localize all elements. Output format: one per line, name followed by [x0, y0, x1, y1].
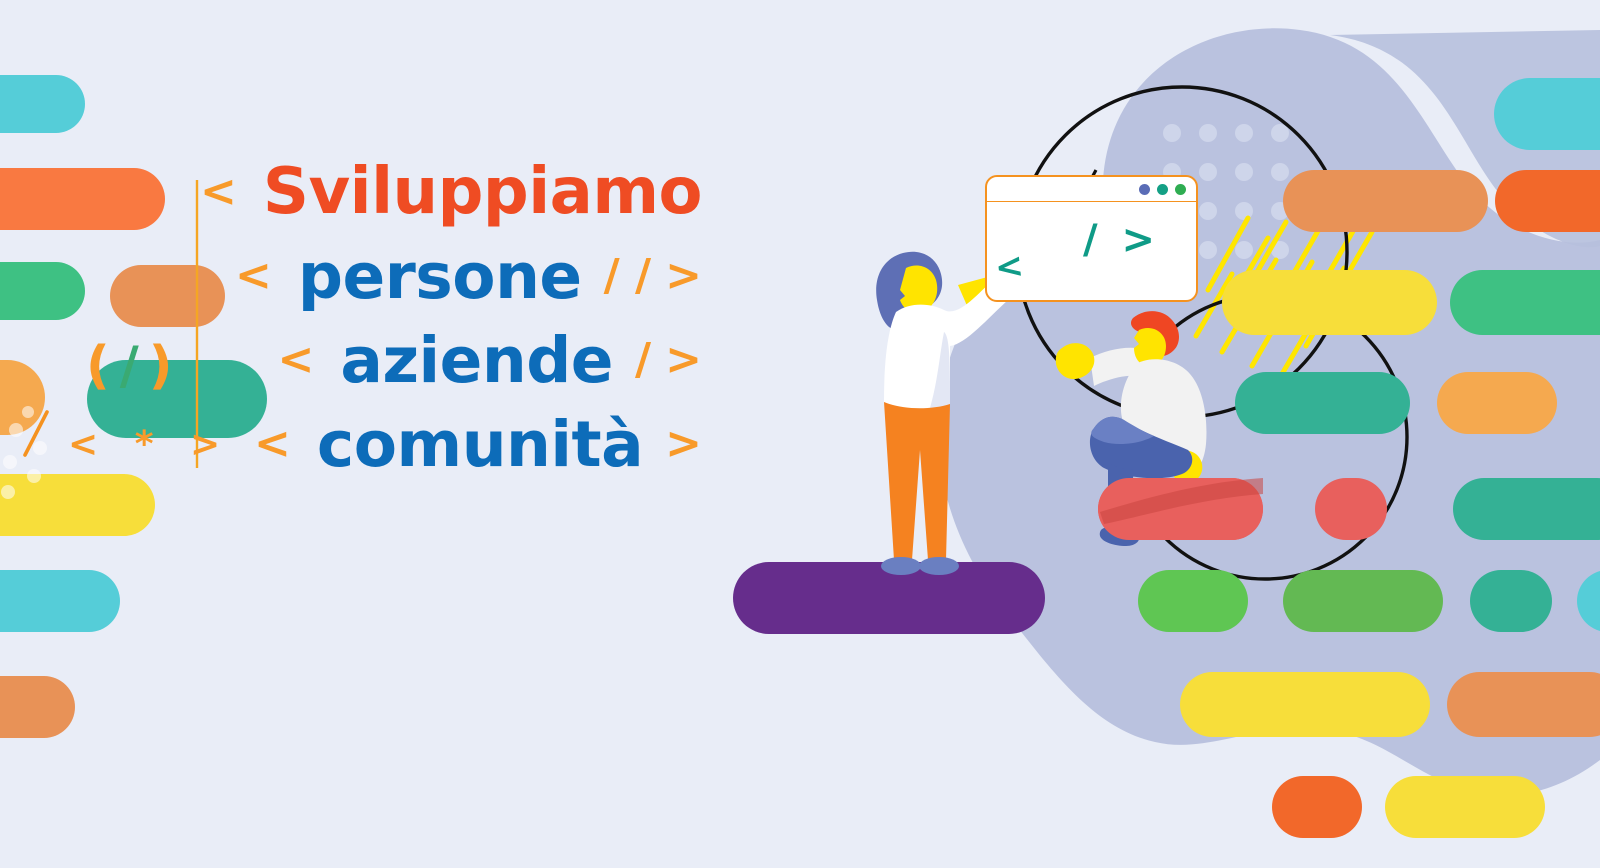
pill-yellow-r3: [1385, 776, 1545, 838]
angle-open-3: <: [277, 338, 314, 382]
pill-tan-r1: [1283, 170, 1488, 232]
browser-code-left: <: [993, 246, 1026, 289]
angle-open-4: <: [254, 422, 291, 466]
slash-mid-2: / /: [604, 254, 651, 298]
slash-mid-3: /: [635, 338, 651, 382]
headline-word-comunita: comunità: [317, 413, 643, 476]
pill-lorange-r1: [1437, 372, 1557, 434]
headline-line-4: < comunità >: [0, 402, 760, 486]
pill-leaf-r1: [1138, 570, 1248, 632]
pill-seagr-r2: [1453, 478, 1600, 540]
window-dot-blue-icon: [1139, 184, 1150, 195]
pill-yellow-r1: [1222, 270, 1437, 335]
pill-yellow-r2: [1180, 672, 1430, 737]
hero-banner: (/) < * > < Sviluppiamo < persone / / > …: [0, 0, 1600, 868]
browser-window-mockup[interactable]: < / >: [985, 175, 1198, 302]
angle-close-3: >: [665, 338, 702, 382]
woman-shoe-left: [881, 557, 921, 575]
pill-teal-r1: [1494, 78, 1600, 150]
pill-dorange-r2: [1272, 776, 1362, 838]
angle-close-4: >: [665, 422, 702, 466]
pill-grass-r1: [1283, 570, 1443, 632]
headline-word-sviluppiamo: Sviluppiamo: [263, 160, 702, 224]
angle-open-2: <: [235, 254, 272, 298]
pill-tan-r2: [1447, 672, 1600, 737]
pill-seagr-r3: [1470, 570, 1552, 632]
headline-word-aziende: aziende: [340, 329, 613, 392]
pill-green-r1: [1450, 270, 1600, 335]
red-seat-pill: [1098, 478, 1263, 540]
woman-shoe-right: [919, 557, 959, 575]
window-dot-teal-icon: [1157, 184, 1168, 195]
browser-titlebar: [987, 177, 1196, 202]
man-hand-front: [1056, 343, 1095, 379]
pill-seagr-r1: [1235, 372, 1410, 434]
pill-teal-r2: [1577, 570, 1600, 632]
angle-close-2: >: [665, 254, 702, 298]
pill-dorange-r1: [1495, 170, 1600, 232]
headline-line-3: < aziende / >: [0, 318, 760, 402]
pill-red-r2: [1315, 478, 1387, 540]
headline-line-1: < Sviluppiamo: [0, 150, 760, 234]
headline-word-persone: persone: [298, 245, 582, 308]
window-dot-green-icon: [1175, 184, 1186, 195]
headline-line-2: < persone / / >: [0, 234, 760, 318]
headline-block: < Sviluppiamo < persone / / > < aziende …: [0, 150, 760, 486]
woman-pants: [884, 402, 950, 560]
browser-code-center: / >: [1083, 217, 1160, 263]
angle-open-1: <: [200, 170, 237, 214]
